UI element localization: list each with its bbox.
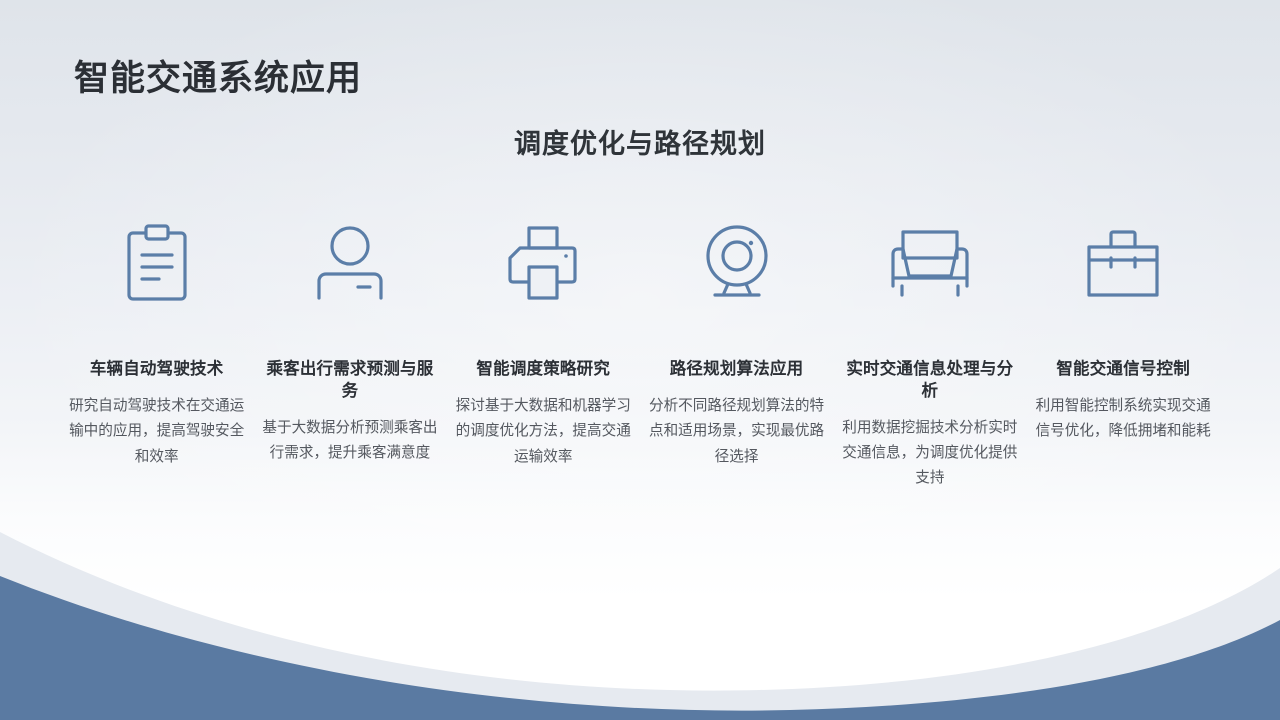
person-icon [314, 215, 386, 311]
armchair-icon [890, 215, 970, 311]
feature-column-3[interactable]: 智能调度策略研究 探讨基于大数据和机器学习的调度优化方法，提高交通运输效率 [447, 215, 640, 470]
feature-description: 研究自动驾驶技术在交通运输中的应用，提高驾驶安全和效率 [68, 394, 246, 470]
feature-column-6[interactable]: 智能交通信号控制 利用智能控制系统实现交通信号优化，降低拥堵和能耗 [1026, 215, 1219, 445]
feature-description: 利用数据挖掘技术分析实时交通信息，为调度优化提供支持 [841, 416, 1019, 492]
feature-columns: 车辆自动驾驶技术 研究自动驾驶技术在交通运输中的应用，提高驾驶安全和效率 乘客出… [60, 215, 1220, 492]
feature-title: 车辆自动驾驶技术 [71, 359, 243, 381]
feature-column-2[interactable]: 乘客出行需求预测与服务 基于大数据分析预测乘客出行需求，提升乘客满意度 [253, 215, 446, 466]
feature-description: 利用智能控制系统实现交通信号优化，降低拥堵和能耗 [1034, 394, 1212, 445]
feature-title: 智能调度策略研究 [457, 359, 629, 381]
webcam-icon [698, 215, 776, 311]
clipboard-icon [125, 215, 189, 311]
feature-column-5[interactable]: 实时交通信息处理与分析 利用数据挖掘技术分析实时交通信息，为调度优化提供支持 [833, 215, 1026, 492]
slide-canvas: 智能交通系统应用 调度优化与路径规划 车辆自动驾驶技术 研究自动驾驶技术在交通运… [0, 0, 1280, 720]
feature-title: 路径规划算法应用 [651, 359, 823, 381]
feature-description: 基于大数据分析预测乘客出行需求，提升乘客满意度 [261, 416, 439, 467]
feature-title: 乘客出行需求预测与服务 [264, 359, 436, 403]
section-subtitle: 调度优化与路径规划 [0, 122, 1280, 161]
feature-column-1[interactable]: 车辆自动驾驶技术 研究自动驾驶技术在交通运输中的应用，提高驾驶安全和效率 [60, 215, 253, 470]
feature-title: 智能交通信号控制 [1037, 359, 1209, 381]
printer-icon [506, 215, 580, 311]
feature-title: 实时交通信息处理与分析 [844, 359, 1016, 403]
feature-description: 分析不同路径规划算法的特点和适用场景，实现最优路径选择 [648, 394, 826, 470]
feature-column-4[interactable]: 路径规划算法应用 分析不同路径规划算法的特点和适用场景，实现最优路径选择 [640, 215, 833, 470]
page-title: 智能交通系统应用 [74, 50, 362, 101]
briefcase-icon [1085, 215, 1161, 311]
bottom-wave-decoration [0, 460, 1280, 720]
feature-description: 探讨基于大数据和机器学习的调度优化方法，提高交通运输效率 [454, 394, 632, 470]
